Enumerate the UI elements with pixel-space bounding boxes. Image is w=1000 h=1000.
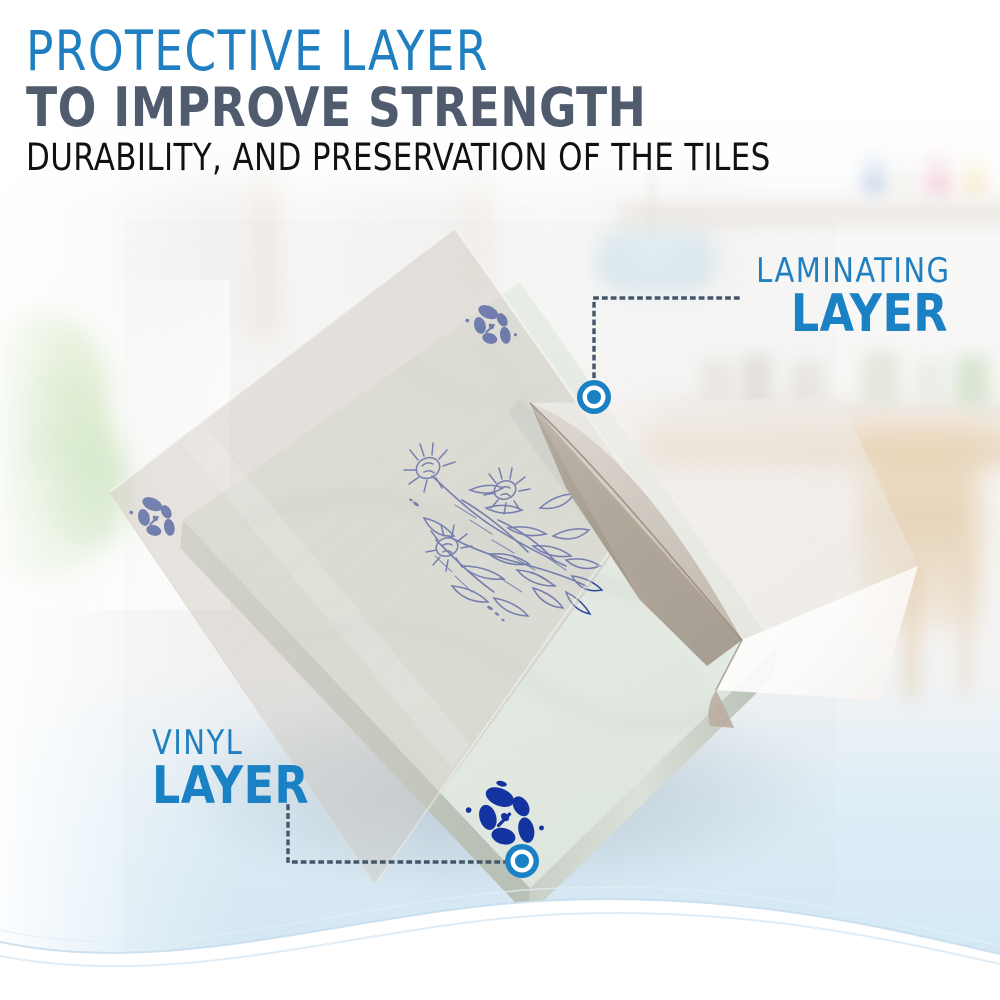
wave-shape-white [0,899,1000,1000]
callout-laminating-small: LAMINATING [756,254,948,288]
headline-line-1: PROTECTIVE LAYER [26,22,790,80]
callout-vinyl-layer: VINYL LAYER [152,726,317,812]
marker-laminating[interactable] [575,378,613,416]
headline-line-3: DURABILITY, AND PRESERVATION OF THE TILE… [26,136,798,180]
callout-vinyl-big: LAYER [152,760,309,812]
callout-laminating-big: LAYER [756,288,948,340]
bottom-wave-decoration [0,830,1000,1000]
headline-block: PROTECTIVE LAYER TO IMPROVE STRENGTH DUR… [26,22,856,180]
headline-line-2: TO IMPROVE STRENGTH [26,80,806,136]
callout-vinyl-small: VINYL [152,726,309,760]
callout-laminating-layer: LAMINATING LAYER [746,254,948,340]
poster-canvas: PROTECTIVE LAYER TO IMPROVE STRENGTH DUR… [0,0,1000,1000]
marker-vinyl[interactable] [503,842,541,880]
